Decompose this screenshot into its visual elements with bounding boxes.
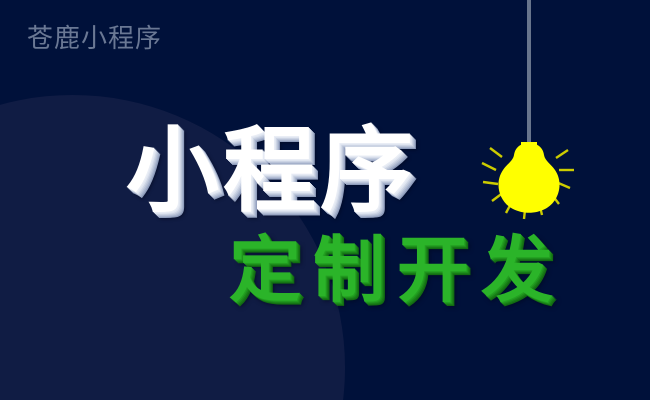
page-title: 小程序 [126,119,417,223]
lightbulb-icon [471,0,591,240]
brand-logo-text: 苍鹿小程序 [27,24,162,54]
page-subtitle: 定制开发 [229,229,565,311]
promo-banner: 苍鹿小程序 小程序 定制开发 [0,0,650,400]
lamp-bulb [498,143,559,213]
